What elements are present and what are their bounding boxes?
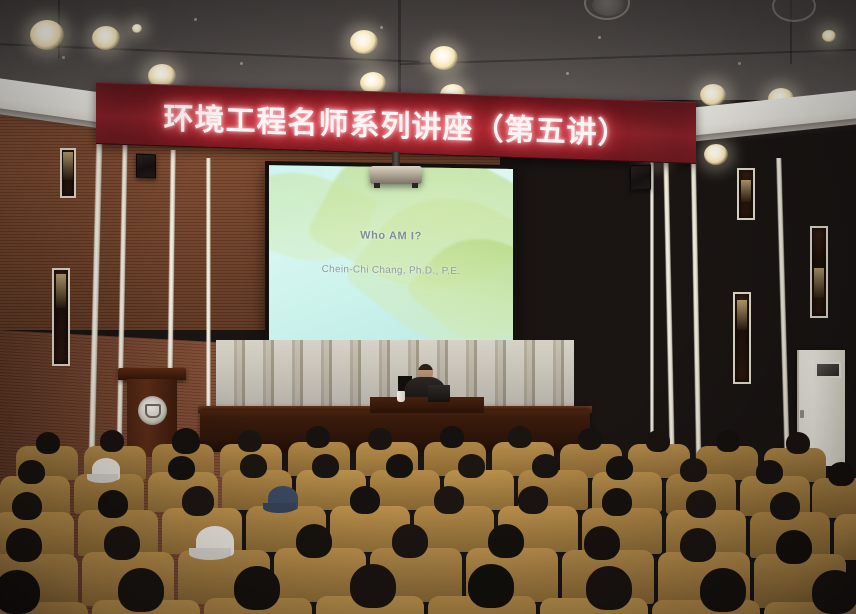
attendee-head xyxy=(578,428,602,450)
door-window xyxy=(815,362,841,378)
attendee-head xyxy=(756,460,783,484)
attendee-head xyxy=(168,456,195,480)
attendee-head xyxy=(518,486,548,514)
university-emblem-icon xyxy=(138,396,167,425)
attendee-head xyxy=(686,490,716,518)
attendee-head xyxy=(586,566,632,610)
attendee-head xyxy=(36,432,60,454)
downlight-icon xyxy=(30,20,64,50)
attendee-cap xyxy=(196,526,234,556)
projector-foot xyxy=(412,183,418,188)
attendee-head xyxy=(18,460,45,484)
attendee-head xyxy=(240,454,267,478)
audience-area xyxy=(0,424,856,614)
attendee-head xyxy=(508,426,532,448)
attendee-head xyxy=(786,432,810,454)
attendee-head xyxy=(100,430,124,452)
laptop-icon xyxy=(428,385,450,402)
attendee-head xyxy=(812,570,856,614)
ceiling-screw-icon xyxy=(194,18,197,21)
wall-speaker-right xyxy=(630,164,651,190)
presenter-table xyxy=(370,397,484,413)
attendee-head xyxy=(770,492,800,520)
attendee-head xyxy=(238,430,262,452)
niche-light xyxy=(741,180,751,202)
attendee-head xyxy=(386,454,413,478)
projection-screen-frame: Who AM I? Chein-Chi Chang, Ph.D., P.E. xyxy=(265,161,517,350)
attendee-head xyxy=(350,486,380,514)
auditorium-photograph: 环境工程名师系列讲座（第五讲） Who AM I? Chein-Chi Chan… xyxy=(0,0,856,614)
niche-light xyxy=(63,152,73,180)
wall-pilaster xyxy=(690,152,701,458)
ceiling-screw-icon xyxy=(62,56,65,59)
ceiling-seam xyxy=(398,0,401,100)
cup-icon xyxy=(397,391,405,402)
attendee-head xyxy=(350,564,396,608)
attendee-head xyxy=(646,430,670,452)
projector-icon xyxy=(370,166,422,184)
seat xyxy=(834,514,856,560)
attendee-head xyxy=(680,458,707,482)
downlight-icon xyxy=(92,26,120,50)
attendee-head xyxy=(434,486,464,514)
attendee-head xyxy=(488,524,524,558)
attendee-head xyxy=(458,454,485,478)
attendee-head xyxy=(98,490,128,518)
attendee-head xyxy=(440,426,464,448)
wall-pilaster xyxy=(650,146,654,458)
attendee-head xyxy=(606,456,633,480)
attendee-head xyxy=(828,462,855,486)
attendee-head xyxy=(0,570,40,614)
downlight-icon xyxy=(350,30,378,54)
ceiling-screw-icon xyxy=(380,26,383,29)
wall-pilaster xyxy=(776,158,790,458)
ceiling-screw-icon xyxy=(240,62,243,65)
downlight-icon xyxy=(700,84,726,106)
emblem-inner-mark xyxy=(145,404,161,418)
attendee-head xyxy=(296,524,332,558)
attendee-head xyxy=(584,526,620,560)
ceiling-screw-icon xyxy=(566,72,569,75)
attendee-head xyxy=(602,488,632,516)
attendee-cap xyxy=(92,458,120,480)
wall-speaker-left xyxy=(136,153,156,178)
niche-light xyxy=(814,268,824,298)
attendee-head xyxy=(392,524,428,558)
ceiling-screw-icon xyxy=(598,36,601,39)
attendee-head xyxy=(172,428,200,454)
attendee-head xyxy=(312,454,339,478)
attendee-head xyxy=(118,568,164,612)
attendee-head xyxy=(306,426,330,448)
niche-light xyxy=(56,274,66,308)
niche-light xyxy=(737,300,747,330)
door-handle-icon[interactable] xyxy=(800,410,804,418)
attendee-head xyxy=(12,492,42,520)
projector-foot xyxy=(374,183,380,188)
attendee-head xyxy=(716,430,740,452)
attendee-head xyxy=(182,486,214,516)
attendee-head xyxy=(776,530,812,564)
attendee-head xyxy=(532,454,559,478)
downlight-icon xyxy=(132,24,142,33)
wall-pilaster xyxy=(663,148,675,458)
attendee-cap xyxy=(268,486,298,510)
downlight-icon xyxy=(704,144,728,165)
attendee-head xyxy=(234,566,280,610)
downlight-icon xyxy=(430,46,458,70)
attendee-head xyxy=(104,526,140,560)
downlight-icon xyxy=(822,30,836,42)
ceiling-screw-icon xyxy=(738,62,741,65)
attendee-head xyxy=(680,528,716,562)
banner-title: 环境工程名师系列讲座（第五讲） xyxy=(164,93,629,152)
projection-screen: Who AM I? Chein-Chi Chang, Ph.D., P.E. xyxy=(269,165,513,344)
attendee-head xyxy=(468,564,514,608)
attendee-head xyxy=(700,568,746,612)
attendee-head xyxy=(368,428,392,450)
attendee-head xyxy=(6,528,42,562)
